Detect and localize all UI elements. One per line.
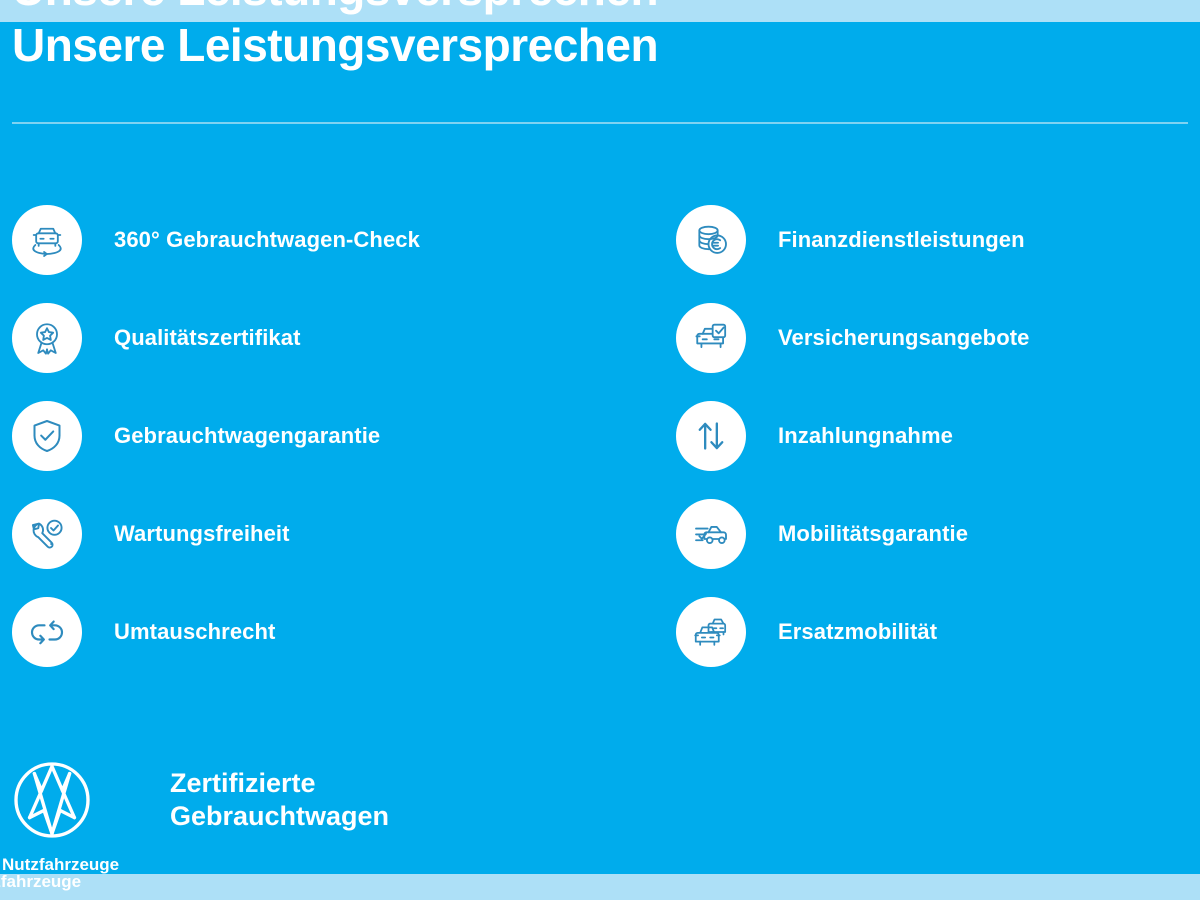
benefit-icon-badge: [676, 303, 746, 373]
footer-subbrand: Nutzfahrzeuge: [2, 855, 119, 875]
benefit-item[interactable]: 360° Gebrauchtwagen-Check: [12, 205, 572, 303]
wrench-check-icon: [27, 514, 67, 554]
car-speed-icon: [691, 514, 731, 554]
footer-branding: Zertifizierte Gebrauchtwagen: [12, 760, 389, 840]
footer-claim: Zertifizierte Gebrauchtwagen: [170, 767, 389, 833]
page-title: Unsere Leistungsversprechen: [12, 22, 658, 68]
benefit-icon-badge: [676, 499, 746, 569]
exchange-arrows-icon: [27, 612, 67, 652]
volkswagen-logo: [12, 760, 92, 840]
benefit-item[interactable]: Wartungsfreiheit: [12, 499, 572, 597]
benefit-icon-badge: [12, 401, 82, 471]
title-divider: [12, 122, 1188, 124]
benefit-item[interactable]: Qualitätszertifikat: [12, 303, 572, 401]
benefit-label: Gebrauchtwagengarantie: [114, 401, 380, 471]
bottom-clipped-band: Nutzfahrzeuge: [0, 874, 1200, 900]
benefit-icon-badge: [12, 205, 82, 275]
benefit-icon-badge: [676, 205, 746, 275]
volkswagen-logo-icon: [12, 760, 92, 840]
footer-claim-line1: Zertifizierte: [170, 767, 389, 800]
benefits-column-left: 360° Gebrauchtwagen-Check Qualitätszerti…: [12, 205, 572, 695]
benefit-icon-badge: [12, 597, 82, 667]
car-checkbox-icon: [691, 318, 731, 358]
benefit-label: Inzahlungnahme: [778, 401, 953, 471]
benefit-icon-badge: [12, 303, 82, 373]
benefit-label: Umtauschrecht: [114, 597, 275, 667]
two-cars-icon: [691, 612, 731, 652]
benefit-label: Mobilitätsgarantie: [778, 499, 968, 569]
coins-euro-icon: [691, 220, 731, 260]
benefit-label: Qualitätszertifikat: [114, 303, 301, 373]
benefit-item[interactable]: Gebrauchtwagengarantie: [12, 401, 572, 499]
benefit-label: Ersatzmobilität: [778, 597, 937, 667]
benefit-item[interactable]: Ersatzmobilität: [676, 597, 1200, 695]
benefit-item[interactable]: Versicherungsangebote: [676, 303, 1200, 401]
clipped-subbrand-ghost: Nutzfahrzeuge: [0, 874, 81, 892]
award-rosette-icon: [27, 318, 67, 358]
benefit-item[interactable]: Inzahlungnahme: [676, 401, 1200, 499]
benefit-label: Finanzdienstleistungen: [778, 205, 1025, 275]
benefit-icon-badge: [676, 597, 746, 667]
benefit-item[interactable]: Mobilitätsgarantie: [676, 499, 1200, 597]
slide-root: Unsere Leistungsversprechen Unsere Leist…: [0, 0, 1200, 900]
benefit-item[interactable]: Umtauschrecht: [12, 597, 572, 695]
benefit-icon-badge: [12, 499, 82, 569]
benefit-icon-badge: [676, 401, 746, 471]
car-360-check-icon: [27, 220, 67, 260]
clipped-title-ghost: Unsere Leistungsversprechen: [12, 0, 658, 16]
benefit-label: Versicherungsangebote: [778, 303, 1030, 373]
benefit-item[interactable]: Finanzdienstleistungen: [676, 205, 1200, 303]
top-clipped-band: Unsere Leistungsversprechen: [0, 0, 1200, 22]
shield-check-icon: [27, 416, 67, 456]
arrows-up-down-icon: [691, 416, 731, 456]
benefit-label: Wartungsfreiheit: [114, 499, 290, 569]
footer-claim-line2: Gebrauchtwagen: [170, 800, 389, 833]
benefit-label: 360° Gebrauchtwagen-Check: [114, 205, 420, 275]
benefits-column-right: Finanzdienstleistungen Versicherungsange…: [676, 205, 1200, 695]
